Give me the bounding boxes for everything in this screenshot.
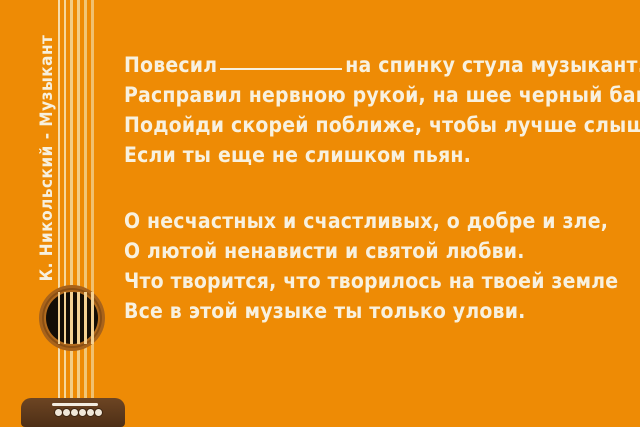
guitar-bridge-pin-3	[71, 409, 78, 416]
lyrics-line: О лютой ненависти и святой любви.	[124, 236, 632, 266]
guitar-string-3	[70, 0, 73, 427]
guitar-bridge-pin-2	[63, 409, 70, 416]
guitar-illustration: К. Никольский - Музыкант	[0, 0, 116, 427]
lyrics-line: Все в этой музыке ты только улови.	[124, 296, 632, 326]
guitar-string-over-hole-4	[77, 292, 80, 344]
guitar-string-6	[91, 0, 94, 427]
guitar-string-4	[77, 0, 80, 427]
guitar-string-over-hole-2	[64, 292, 66, 344]
artist-title-caption: К. Никольский - Музыкант	[37, 33, 57, 283]
lyrics-line-text-after: на спинку стула музыкант.	[345, 53, 640, 77]
guitar-string-5	[84, 0, 87, 427]
lyrics-body: Повесилна спинку стула музыкант. Расправ…	[124, 50, 632, 326]
guitar-string-1	[58, 0, 60, 427]
lyrics-line: Расправил нервною рукой, на шее черный б…	[124, 80, 632, 110]
lyrics-line: Что творится, что творилось на твоей зем…	[124, 266, 632, 296]
guitar-bridge-pin-6	[95, 409, 102, 416]
lyrics-line: О несчастных и счастливых, о добре и зле…	[124, 206, 632, 236]
lyrics-line: Повесилна спинку стула музыкант.	[124, 50, 632, 80]
lyrics-blank-fill	[220, 68, 342, 70]
guitar-bridge-pin-5	[87, 409, 94, 416]
lyrics-stanza: О несчастных и счастливых, о добре и зле…	[124, 206, 632, 326]
guitar-bridge-pin-1	[55, 409, 62, 416]
lyrics-poster: К. Никольский - Музыкант Повесилна спинк…	[0, 0, 640, 427]
guitar-string-over-hole-1	[58, 292, 60, 344]
lyrics-line-text-before: Повесил	[124, 53, 217, 77]
lyrics-stanza: Повесилна спинку стула музыкант. Расправ…	[124, 50, 632, 170]
guitar-string-over-hole-5	[84, 292, 87, 344]
guitar-string-over-hole-6	[91, 292, 94, 344]
guitar-bridge-saddle	[52, 403, 98, 406]
guitar-string-2	[64, 0, 66, 427]
lyrics-line: Подойди скорей поближе, чтобы лучше слыш…	[124, 110, 632, 140]
lyrics-line: Если ты еще не слишком пьян.	[124, 140, 632, 170]
guitar-string-over-hole-3	[70, 292, 73, 344]
guitar-bridge-pin-4	[79, 409, 86, 416]
